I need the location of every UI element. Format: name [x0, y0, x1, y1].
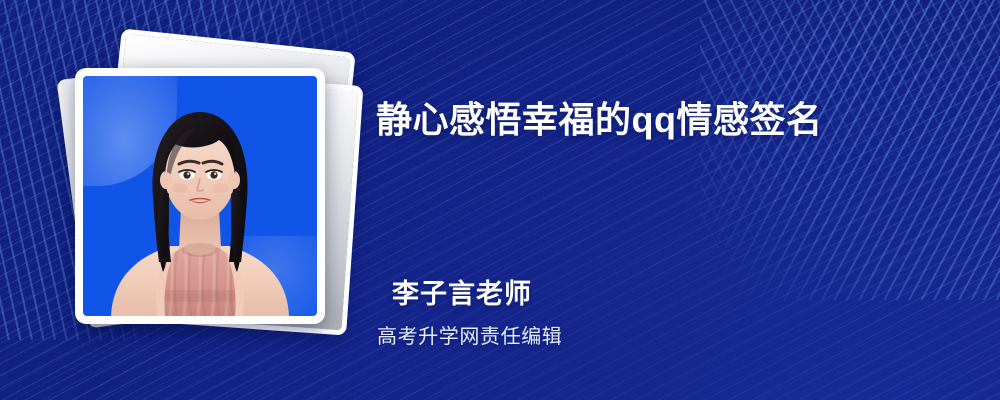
portrait-photo: [83, 76, 317, 316]
portrait-illustration: [83, 76, 317, 316]
article-header-banner: 静心感悟幸福的qq情感签名 李子言老师 高考升学网责任编辑: [0, 0, 1000, 400]
author-role: 高考升学网责任编辑: [377, 320, 562, 349]
photo-card-stack: [70, 38, 340, 338]
author-name: 李子言老师: [392, 272, 532, 311]
page-title: 静心感悟幸福的qq情感签名: [376, 97, 822, 142]
portrait-photo-frame: [75, 68, 325, 324]
